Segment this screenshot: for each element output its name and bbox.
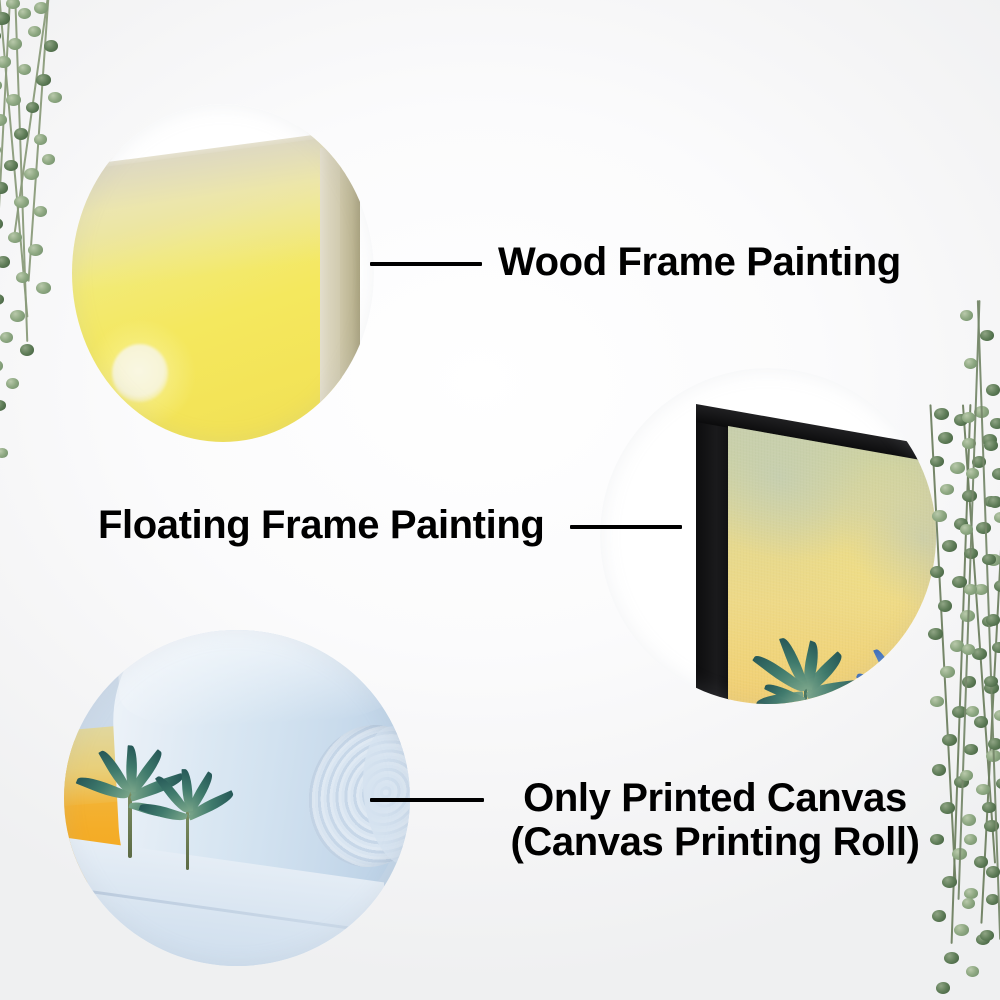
label-floating-frame-painting: Floating Frame Painting [98, 503, 544, 547]
wood-frame-painting-photo [72, 104, 374, 442]
canvas-printing-roll-photo [64, 630, 410, 966]
label-printed-canvas-line1: Only Printed Canvas [492, 776, 938, 820]
infographic-canvas: Wood Frame Painting Floating Frame Paint… [0, 0, 1000, 1000]
connector-line-floating-frame [570, 525, 682, 529]
floating-frame-artwork [728, 426, 936, 704]
connector-line-printed-canvas [370, 798, 484, 802]
hanging-vine-right [928, 404, 1000, 1000]
canvas-wrap-edge [320, 145, 342, 442]
black-frame-side [696, 410, 730, 704]
label-printed-canvas-line2: (Canvas Printing Roll) [492, 820, 938, 864]
printed-palm-tree-right [142, 772, 252, 882]
label-printed-canvas: Only Printed Canvas (Canvas Printing Rol… [492, 776, 938, 864]
connector-line-wood-frame [370, 262, 482, 266]
label-wood-frame-painting: Wood Frame Painting [498, 240, 901, 284]
wood-frame-side [340, 147, 360, 442]
hanging-vine-right-back [958, 300, 1000, 1000]
sun-circle-icon [112, 344, 168, 402]
floating-frame-painting-photo [600, 368, 936, 704]
